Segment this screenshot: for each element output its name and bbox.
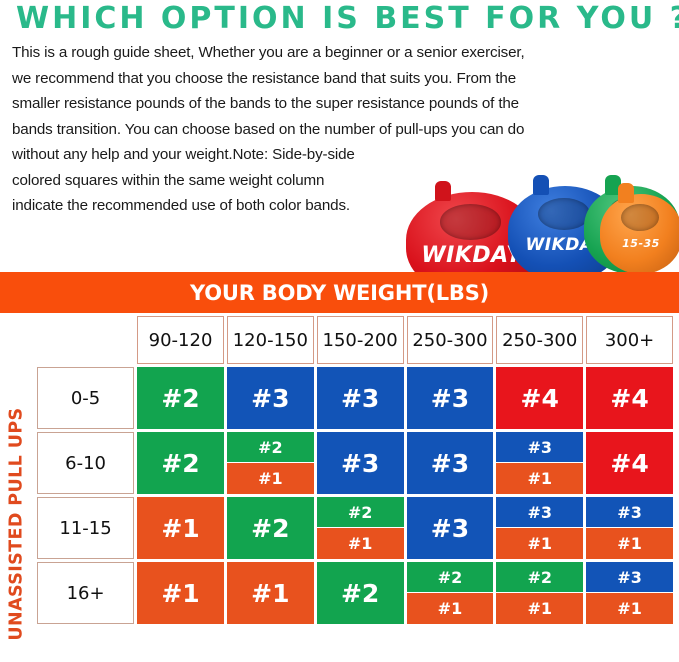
band-recommendation: #1 bbox=[586, 528, 673, 559]
band-recommendation: #2 bbox=[496, 562, 583, 593]
band-recommendation: #2 bbox=[227, 497, 314, 559]
band-loop-tab bbox=[533, 175, 549, 195]
band-recommendation: #1 bbox=[137, 497, 224, 559]
cell-r1-c2: #3 bbox=[317, 432, 404, 494]
cell-r1-c1: #2#1 bbox=[227, 432, 314, 494]
band-loop-tab bbox=[435, 181, 451, 201]
cell-r0-c2: #3 bbox=[317, 367, 404, 429]
cell-r1-c3: #3 bbox=[407, 432, 494, 494]
band-recommendation: #2 bbox=[137, 367, 224, 429]
band-recommendation: #2 bbox=[137, 432, 224, 494]
band-recommendation: #3 bbox=[496, 497, 583, 528]
band-recommendation-pair: #3#1 bbox=[586, 562, 673, 624]
band-recommendation: #1 bbox=[407, 593, 494, 624]
band-recommendation: #4 bbox=[496, 367, 583, 429]
band-recommendation: #3 bbox=[407, 432, 494, 494]
table-row: 11-15#1#2#2#1#3#3#1#3#1 bbox=[37, 497, 673, 559]
band-recommendation: #3 bbox=[586, 562, 673, 593]
band-recommendation: #1 bbox=[317, 528, 404, 559]
table-row: 16+#1#1#2#2#1#2#1#3#1 bbox=[37, 562, 673, 624]
band-recommendation: #1 bbox=[586, 593, 673, 624]
cell-r1-c5: #4 bbox=[586, 432, 673, 494]
intro-section: This is a rough guide sheet, Whether you… bbox=[0, 34, 679, 264]
band-recommendation-pair: #2#1 bbox=[407, 562, 494, 624]
intro-line: without any help and your weight.Note: S… bbox=[12, 142, 442, 168]
row-header-16plus: 16+ bbox=[37, 562, 134, 624]
cell-r3-c3: #2#1 bbox=[407, 562, 494, 624]
cell-r3-c0: #1 bbox=[137, 562, 224, 624]
cell-r2-c2: #2#1 bbox=[317, 497, 404, 559]
band-recommendation: #1 bbox=[496, 593, 583, 624]
band-recommendation-pair: #3#1 bbox=[496, 432, 583, 494]
body-weight-banner: YOUR BODY WEIGHT(LBS) bbox=[0, 272, 679, 313]
recommendation-table-area: UNASSISTED PULL UPS 90-120 120-150 150-2… bbox=[0, 313, 679, 662]
band-recommendation: #3 bbox=[496, 432, 583, 463]
cell-r0-c5: #4 bbox=[586, 367, 673, 429]
band-recommendation-pair: #2#1 bbox=[227, 432, 314, 494]
cell-r2-c4: #3#1 bbox=[496, 497, 583, 559]
intro-line: smaller resistance pounds of the bands t… bbox=[12, 91, 612, 117]
table-body: 0-5#2#3#3#3#4#46-10#2#2#1#3#3#3#1#411-15… bbox=[37, 367, 673, 624]
band-recommendation: #1 bbox=[227, 463, 314, 494]
band-recommendation-pair: #2#1 bbox=[496, 562, 583, 624]
intro-line: This is a rough guide sheet, Whether you… bbox=[12, 40, 612, 66]
unassisted-pull-ups-axis-label: UNASSISTED PULL UPS bbox=[0, 386, 34, 661]
cell-r2-c1: #2 bbox=[227, 497, 314, 559]
cell-r1-c0: #2 bbox=[137, 432, 224, 494]
row-header-11-15: 11-15 bbox=[37, 497, 134, 559]
band-recommendation: #1 bbox=[227, 562, 314, 624]
cell-r3-c4: #2#1 bbox=[496, 562, 583, 624]
recommendation-table: 90-120 120-150 150-200 250-300 250-300 3… bbox=[34, 313, 676, 627]
table-header-row: 90-120 120-150 150-200 250-300 250-300 3… bbox=[37, 316, 673, 364]
band-recommendation: #1 bbox=[496, 528, 583, 559]
band-recommendation-pair: #3#1 bbox=[496, 497, 583, 559]
intro-line: bands transition. You can choose based o… bbox=[12, 117, 612, 143]
table-row: 0-5#2#3#3#3#4#4 bbox=[37, 367, 673, 429]
cell-r3-c1: #1 bbox=[227, 562, 314, 624]
cell-r3-c5: #3#1 bbox=[586, 562, 673, 624]
cell-r2-c3: #3 bbox=[407, 497, 494, 559]
band-recommendation: #3 bbox=[407, 497, 494, 559]
band-recommendation: #3 bbox=[317, 367, 404, 429]
row-header-6-10: 6-10 bbox=[37, 432, 134, 494]
cell-r2-c5: #3#1 bbox=[586, 497, 673, 559]
page-title: WHICH OPTION IS BEST FOR YOU ? bbox=[0, 0, 679, 34]
band-recommendation: #2 bbox=[407, 562, 494, 593]
band-coil-hole bbox=[621, 204, 659, 231]
band-recommendation: #3 bbox=[227, 367, 314, 429]
cell-r0-c0: #2 bbox=[137, 367, 224, 429]
band-recommendation: #4 bbox=[586, 432, 673, 494]
cell-r0-c4: #4 bbox=[496, 367, 583, 429]
band-recommendation: #2 bbox=[317, 497, 404, 528]
band-recommendation: #2 bbox=[227, 432, 314, 463]
intro-line: indicate the recommended use of both col… bbox=[12, 193, 442, 219]
cell-r3-c2: #2 bbox=[317, 562, 404, 624]
corner-cell bbox=[37, 316, 134, 364]
band-coil-hole bbox=[440, 204, 501, 239]
cell-r1-c4: #3#1 bbox=[496, 432, 583, 494]
band-recommendation: #3 bbox=[586, 497, 673, 528]
intro-line: we recommend that you choose the resista… bbox=[12, 66, 612, 92]
column-header-250-300-a: 250-300 bbox=[407, 316, 494, 364]
band-recommendation: #2 bbox=[317, 562, 404, 624]
band-recommendation: #1 bbox=[137, 562, 224, 624]
band-recommendation-pair: #3#1 bbox=[586, 497, 673, 559]
band-orange: 15-35 bbox=[600, 194, 679, 274]
body-weight-banner-title: YOUR BODY WEIGHT(LBS) bbox=[190, 281, 489, 305]
table-row: 6-10#2#2#1#3#3#3#1#4 bbox=[37, 432, 673, 494]
cell-r2-c0: #1 bbox=[137, 497, 224, 559]
band-recommendation: #1 bbox=[496, 463, 583, 494]
band-loop-tab bbox=[618, 183, 634, 203]
column-header-120-150: 120-150 bbox=[227, 316, 314, 364]
cell-r0-c3: #3 bbox=[407, 367, 494, 429]
axis-label-text: UNASSISTED PULL UPS bbox=[7, 407, 27, 640]
row-header-0-5: 0-5 bbox=[37, 367, 134, 429]
band-recommendation-pair: #2#1 bbox=[317, 497, 404, 559]
column-header-150-200: 150-200 bbox=[317, 316, 404, 364]
column-header-250-300-b: 250-300 bbox=[496, 316, 583, 364]
cell-r0-c1: #3 bbox=[227, 367, 314, 429]
band-coil-hole bbox=[538, 198, 590, 231]
column-header-90-120: 90-120 bbox=[137, 316, 224, 364]
intro-line: colored squares within the same weight c… bbox=[12, 168, 442, 194]
band-recommendation: #3 bbox=[407, 367, 494, 429]
column-header-300-plus: 300+ bbox=[586, 316, 673, 364]
band-brand-text: 15-35 bbox=[600, 232, 679, 254]
band-recommendation: #4 bbox=[586, 367, 673, 429]
band-recommendation: #3 bbox=[317, 432, 404, 494]
